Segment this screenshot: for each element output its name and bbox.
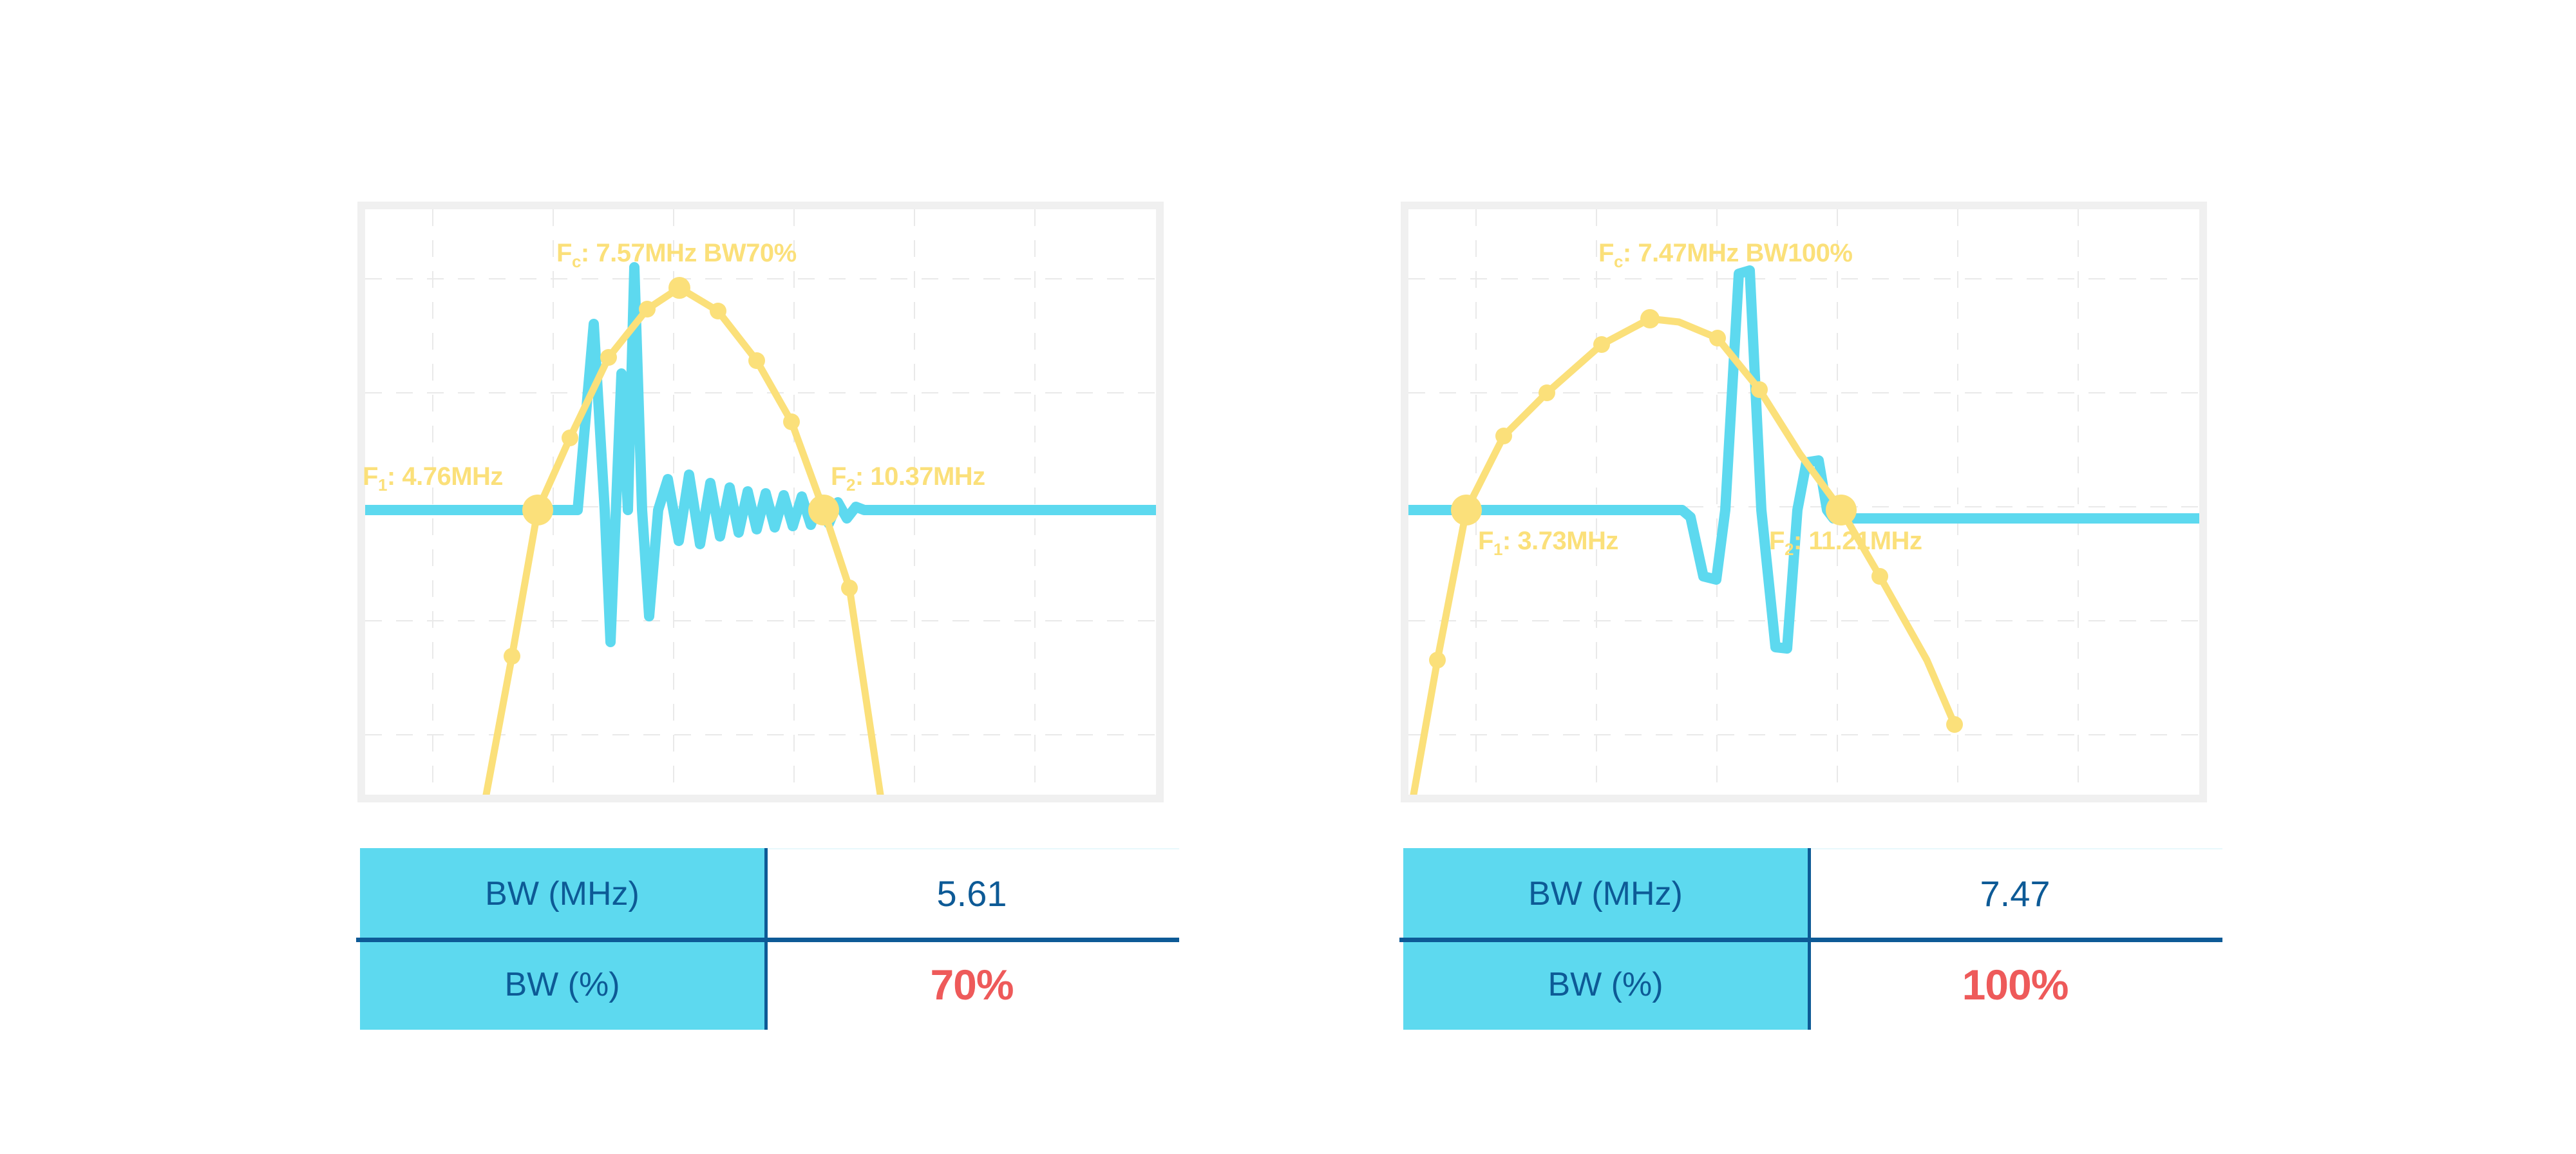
panel-right: Fc: 7.47MHz BW100% F1: 3.73MHz F2: 11.21… (1352, 0, 2286, 1154)
f1-marker-left (522, 495, 553, 525)
table-horizontal-divider (1399, 938, 2222, 942)
spectrum-plot-right (1408, 209, 2199, 795)
bw-mhz-key-label: BW (MHz) (485, 875, 639, 913)
table-horizontal-divider (356, 938, 1179, 942)
table-row: BW (%) 70% (360, 939, 1179, 1030)
bandwidth-table-right: BW (MHz) 7.47 BW (%) 100% (1403, 848, 2222, 1030)
f2-label-left: F2: 10.37MHz (831, 464, 985, 493)
table-top-rule (764, 848, 1179, 849)
f2-marker-left (808, 495, 839, 525)
plot-frame-right: Fc: 7.47MHz BW100% F1: 3.73MHz F2: 11.21… (1401, 202, 2207, 802)
fc-label-right: Fc: 7.47MHz BW100% (1598, 240, 1852, 270)
bw-pct-key-cell: BW (%) (360, 939, 764, 1030)
f2-label-right: F2: 11.21MHz (1769, 528, 1922, 558)
table-row: BW (%) 100% (1403, 939, 2222, 1030)
bw-pct-value: 100% (1962, 960, 2069, 1009)
bw-pct-value-cell: 100% (1808, 939, 2222, 1030)
bw-pct-key-cell: BW (%) (1403, 939, 1808, 1030)
plot-area-left (365, 209, 1156, 795)
bw-mhz-key-cell: BW (MHz) (1403, 848, 1808, 939)
bw-mhz-key-label: BW (MHz) (1528, 875, 1683, 913)
bw-mhz-key-cell: BW (MHz) (360, 848, 764, 939)
table-top-rule (1808, 848, 2222, 849)
spectrum-plot-left (365, 209, 1156, 795)
bw-pct-key-label: BW (%) (1548, 965, 1663, 1004)
fc-label-left: Fc: 7.57MHz BW70% (556, 240, 797, 270)
panel-left: Fc: 7.57MHz BW70% F1: 4.76MHz F2: 10.37M… (309, 0, 1243, 1154)
table-row: BW (MHz) 5.61 (360, 848, 1179, 939)
bw-pct-key-label: BW (%) (504, 965, 620, 1004)
bw-pct-value: 70% (930, 960, 1013, 1009)
f2-marker-right (1826, 495, 1857, 525)
bandwidth-table-left: BW (MHz) 5.61 BW (%) 70% (360, 848, 1179, 1030)
bw-mhz-value-cell: 5.61 (764, 848, 1179, 939)
figure-canvas: Fc: 7.57MHz BW70% F1: 4.76MHz F2: 10.37M… (0, 0, 2576, 1154)
plot-area-right (1408, 209, 2199, 795)
bw-mhz-value: 7.47 (1980, 873, 2050, 914)
f1-label-right: F1: 3.73MHz (1478, 528, 1618, 558)
bw-pct-value-cell: 70% (764, 939, 1179, 1030)
f1-marker-right (1451, 495, 1482, 525)
plot-frame-left: Fc: 7.57MHz BW70% F1: 4.76MHz F2: 10.37M… (357, 202, 1164, 802)
table-row: BW (MHz) 7.47 (1403, 848, 2222, 939)
pulse-waveform-left (365, 267, 1156, 642)
bw-mhz-value-cell: 7.47 (1808, 848, 2222, 939)
f1-label-left: F1: 4.76MHz (363, 464, 503, 493)
bw-mhz-value: 5.61 (937, 873, 1007, 914)
